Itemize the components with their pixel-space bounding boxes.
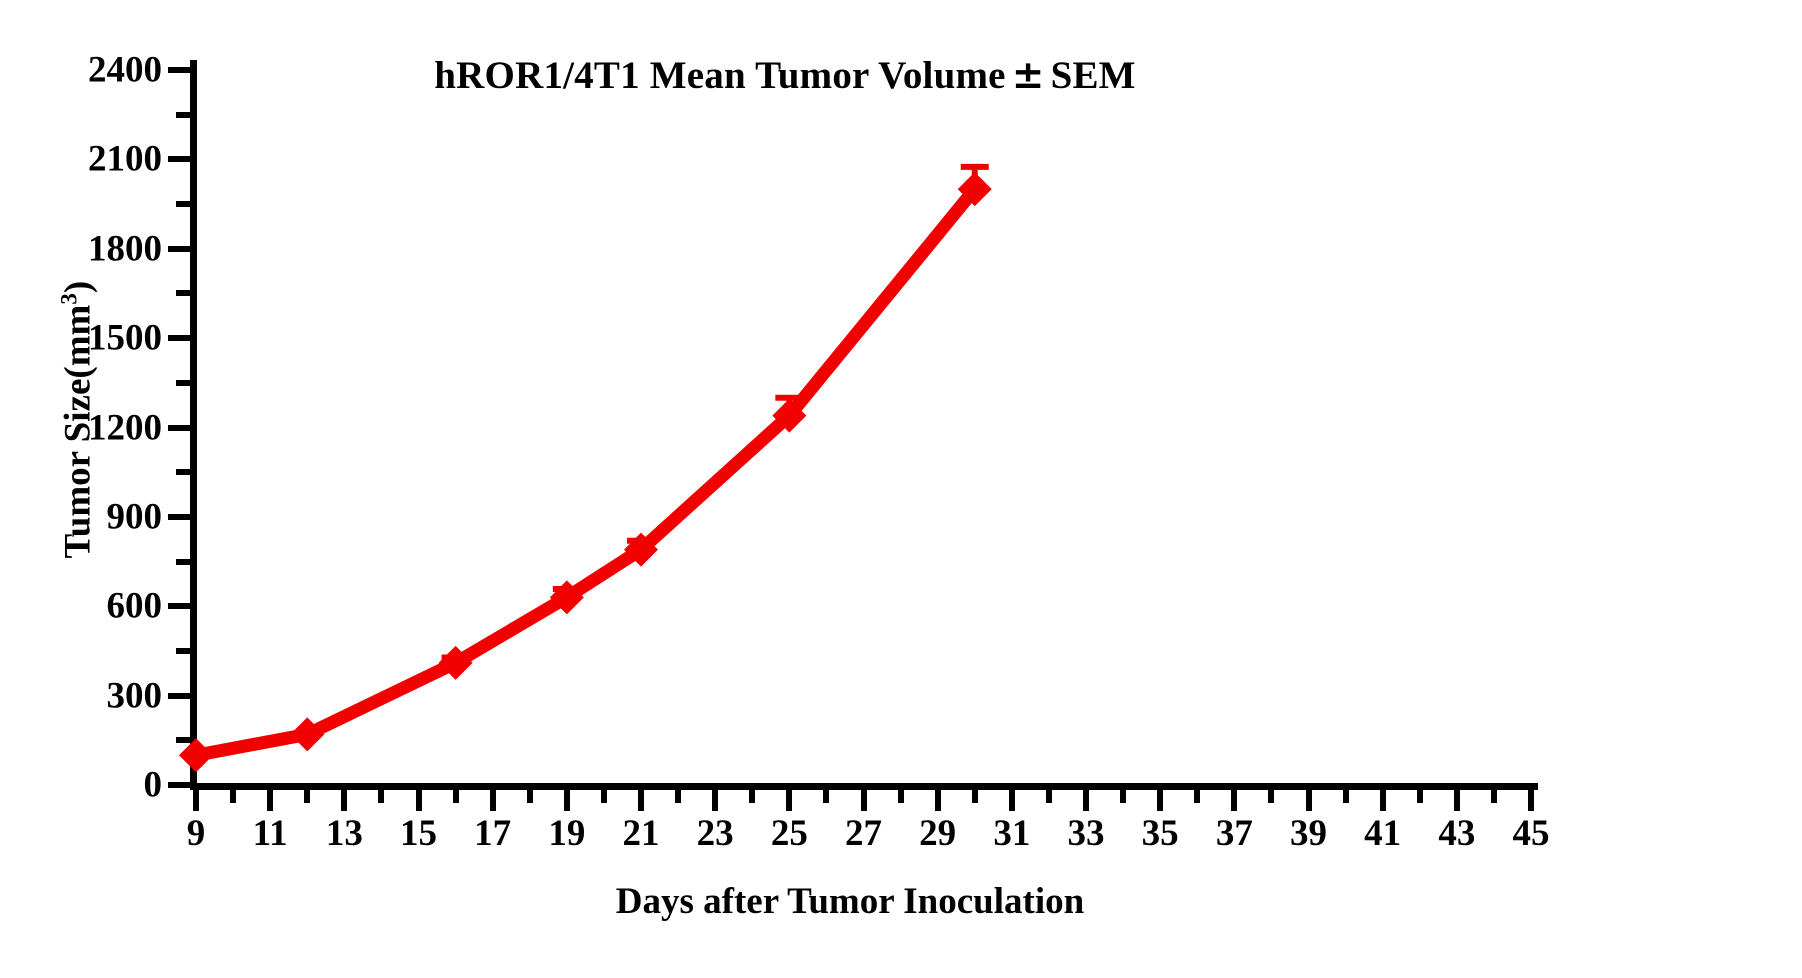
x-tick-minor (1046, 789, 1052, 803)
x-tick-major (564, 789, 570, 811)
x-tick-minor (675, 789, 681, 803)
x-tick-major (1009, 789, 1015, 811)
plus-minus-symbol: ± (1006, 52, 1051, 98)
y-axis-title-tail: ) (58, 281, 99, 293)
y-tick-label: 1500 (88, 317, 162, 360)
y-tick-minor (176, 559, 190, 565)
x-tick-minor (1417, 789, 1423, 803)
error-bar (961, 167, 989, 189)
x-tick-label: 29 (919, 812, 956, 855)
y-tick-major (168, 782, 190, 788)
x-tick-major (1157, 789, 1163, 811)
x-tick-minor (1343, 789, 1349, 803)
x-tick-label: 21 (623, 812, 660, 855)
x-tick-label: 9 (187, 812, 206, 855)
data-point-marker (439, 646, 473, 680)
data-point-marker (958, 172, 992, 206)
y-tick-label: 300 (107, 674, 163, 717)
x-tick-minor (1194, 789, 1200, 803)
x-tick-label: 15 (400, 812, 437, 855)
x-tick-major (1454, 789, 1460, 811)
y-tick-minor (176, 112, 190, 118)
x-tick-label: 37 (1216, 812, 1253, 855)
x-tick-major (1306, 789, 1312, 811)
x-tick-major (638, 789, 644, 811)
y-tick-major (168, 335, 190, 341)
data-point-marker (290, 717, 324, 751)
chart-title-suffix: SEM (1051, 54, 1136, 97)
y-tick-label: 1800 (88, 227, 162, 270)
x-tick-major (1380, 789, 1386, 811)
x-tick-label: 13 (326, 812, 363, 855)
error-bar (627, 541, 655, 550)
data-point-marker (624, 533, 658, 567)
series-line (196, 189, 975, 755)
x-tick-major (861, 789, 867, 811)
y-tick-minor (176, 380, 190, 386)
series-hror1-4t1 (179, 167, 992, 772)
x-tick-minor (304, 789, 310, 803)
x-tick-major (490, 789, 496, 811)
x-tick-major (712, 789, 718, 811)
x-tick-label: 27 (845, 812, 882, 855)
x-tick-major (193, 789, 199, 811)
x-tick-minor (601, 789, 607, 803)
x-tick-major (341, 789, 347, 811)
x-tick-major (786, 789, 792, 811)
data-point-marker (772, 399, 806, 433)
chart-title: hROR1/4T1 Mean Tumor Volume±SEM (0, 52, 1570, 98)
y-tick-major (168, 246, 190, 252)
x-tick-minor (823, 789, 829, 803)
x-tick-major (1083, 789, 1089, 811)
y-tick-major (168, 425, 190, 431)
x-axis-title: Days after Tumor Inoculation (180, 880, 1520, 923)
y-tick-major (168, 603, 190, 609)
x-tick-label: 41 (1364, 812, 1401, 855)
y-tick-minor (176, 648, 190, 654)
y-axis-spine (190, 60, 197, 790)
y-tick-minor (176, 737, 190, 743)
x-tick-label: 11 (253, 812, 288, 855)
y-tick-label: 900 (107, 495, 163, 538)
x-tick-label: 45 (1513, 812, 1550, 855)
y-tick-label: 2100 (88, 138, 162, 181)
y-tick-minor (176, 290, 190, 296)
x-tick-major (935, 789, 941, 811)
x-tick-major (1528, 789, 1534, 811)
x-tick-label: 31 (993, 812, 1030, 855)
y-tick-major (168, 514, 190, 520)
error-bar (775, 398, 803, 416)
x-tick-label: 35 (1142, 812, 1179, 855)
y-tick-major (168, 156, 190, 162)
x-tick-minor (1268, 789, 1274, 803)
error-bar (553, 589, 581, 597)
x-tick-minor (230, 789, 236, 803)
x-tick-label: 33 (1068, 812, 1105, 855)
error-bar (442, 657, 470, 662)
x-tick-major (416, 789, 422, 811)
x-tick-minor (1491, 789, 1497, 803)
data-point-marker (550, 580, 584, 614)
x-tick-minor (527, 789, 533, 803)
y-tick-label: 0 (144, 764, 163, 807)
x-tick-label: 19 (548, 812, 585, 855)
y-axis-title-exponent: 3 (56, 293, 81, 305)
y-tick-major (168, 693, 190, 699)
y-tick-minor (176, 201, 190, 207)
x-tick-label: 23 (697, 812, 734, 855)
x-tick-major (1231, 789, 1237, 811)
y-tick-label: 600 (107, 585, 163, 628)
x-tick-minor (1120, 789, 1126, 803)
chart-figure: hROR1/4T1 Mean Tumor Volume±SEM Tumor Si… (0, 0, 1802, 978)
y-tick-major (168, 67, 190, 73)
y-tick-label: 1200 (88, 406, 162, 449)
x-tick-label: 39 (1290, 812, 1327, 855)
x-tick-minor (749, 789, 755, 803)
x-tick-minor (898, 789, 904, 803)
x-tick-minor (378, 789, 384, 803)
x-tick-label: 25 (771, 812, 808, 855)
chart-title-prefix: hROR1/4T1 Mean Tumor Volume (434, 54, 1005, 97)
y-tick-minor (176, 469, 190, 475)
x-tick-label: 17 (474, 812, 511, 855)
y-tick-label: 2400 (88, 49, 162, 92)
x-tick-major (267, 789, 273, 811)
x-tick-minor (453, 789, 459, 803)
x-tick-label: 43 (1438, 812, 1475, 855)
x-tick-minor (972, 789, 978, 803)
